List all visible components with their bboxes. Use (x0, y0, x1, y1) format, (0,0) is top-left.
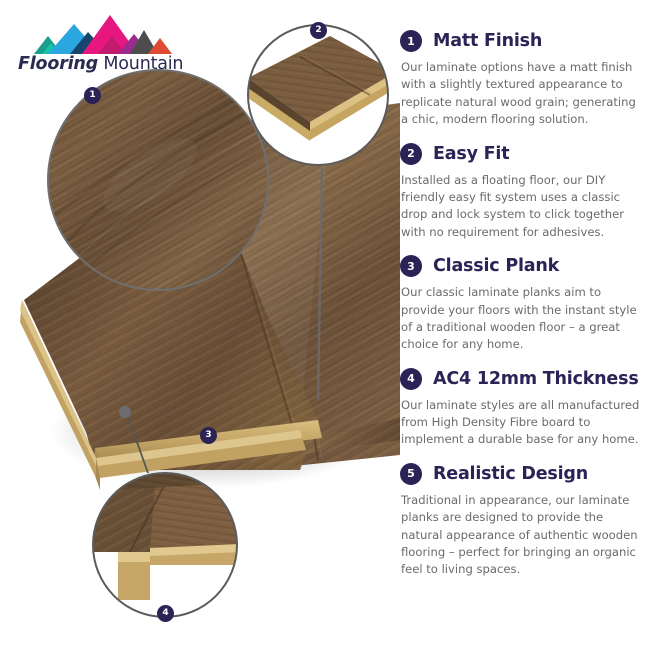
feature-title: Realistic Design (433, 464, 588, 484)
feature-number-badge: 1 (400, 30, 422, 52)
image-marker-1: 1 (84, 87, 101, 104)
feature-item: 5 Realistic Design Traditional in appear… (400, 461, 644, 579)
feature-header: 5 Realistic Design (400, 461, 644, 487)
feature-number-badge: 5 (400, 463, 422, 485)
image-marker-3: 3 (200, 427, 217, 444)
image-marker-2: 2 (310, 22, 327, 39)
feature-number-badge: 2 (400, 143, 422, 165)
image-marker-4: 4 (157, 605, 174, 622)
feature-body: Our laminate styles are all manufactured… (400, 397, 644, 449)
feature-item: 1 Matt Finish Our laminate options have … (400, 28, 644, 129)
feature-title: Classic Plank (433, 256, 559, 276)
feature-item: 4 AC4 12mm Thickness Our laminate styles… (400, 366, 644, 449)
feature-body: Our classic laminate planks aim to provi… (400, 284, 644, 354)
magnifier-circle-1 (48, 70, 268, 290)
feature-list: 1 Matt Finish Our laminate options have … (400, 28, 644, 591)
feature-title: Easy Fit (433, 144, 509, 164)
feature-item: 2 Easy Fit Installed as a floating floor… (400, 141, 644, 242)
feature-header: 2 Easy Fit (400, 141, 644, 167)
feature-item: 3 Classic Plank Our classic laminate pla… (400, 253, 644, 354)
feature-title: AC4 12mm Thickness (433, 369, 639, 389)
feature-header: 1 Matt Finish (400, 28, 644, 54)
infographic-root: Flooring Mountain (0, 0, 650, 650)
feature-number-badge: 3 (400, 255, 422, 277)
flooring-illustration (0, 0, 400, 650)
feature-body: Traditional in appearance, our laminate … (400, 492, 644, 579)
feature-body: Our laminate options have a matt finish … (400, 59, 644, 129)
leader-dot (119, 406, 131, 418)
feature-header: 3 Classic Plank (400, 253, 644, 279)
feature-title: Matt Finish (433, 31, 542, 51)
feature-number-badge: 4 (400, 368, 422, 390)
feature-header: 4 AC4 12mm Thickness (400, 366, 644, 392)
feature-body: Installed as a floating floor, our DIY f… (400, 172, 644, 242)
